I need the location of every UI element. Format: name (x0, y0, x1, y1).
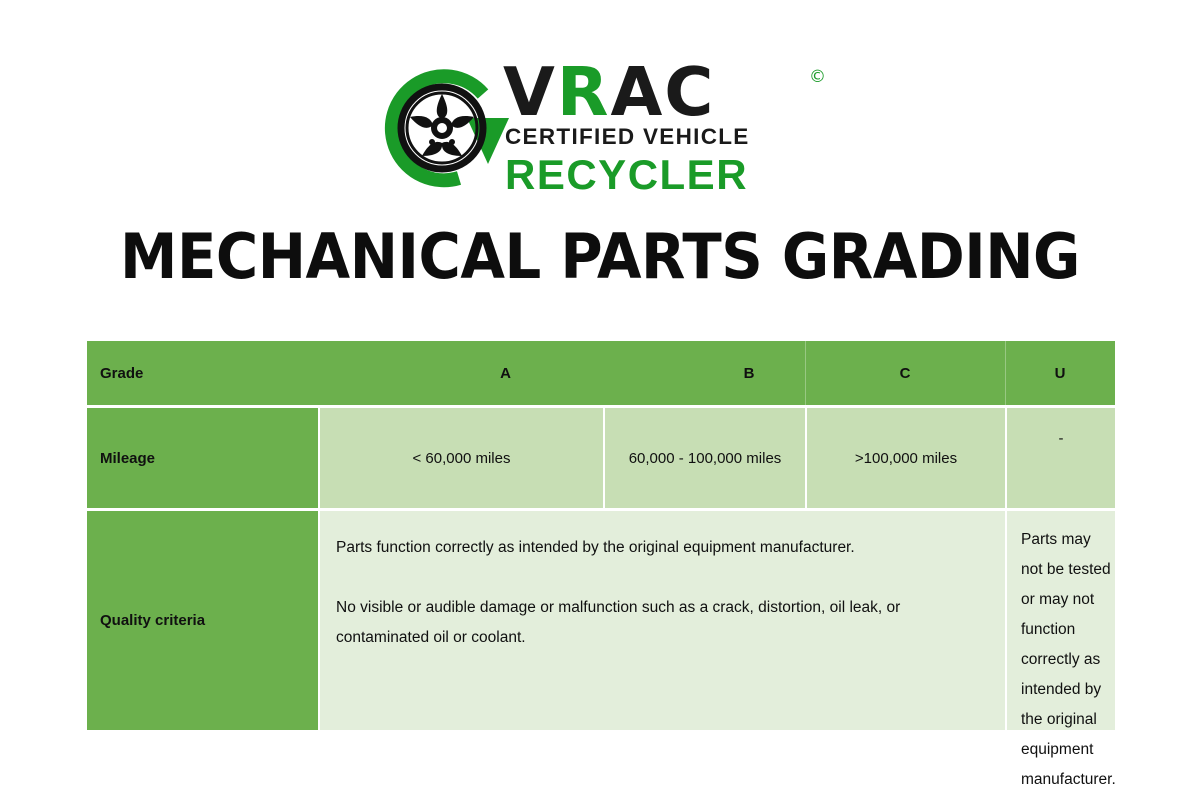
vrac-letter-v: V (503, 53, 557, 131)
header-separator (1005, 341, 1006, 405)
table-header-grade-a: A (318, 341, 693, 405)
copyright-icon: © (809, 69, 826, 86)
mileage-cell-c: >100,000 miles (805, 408, 1005, 508)
table-header-grade-c: C (805, 341, 1005, 405)
vrac-wordmark: VRAC © CERTIFIED VEHICLE RECYCLER (503, 55, 838, 200)
table-header-row: Grade A B C U (87, 341, 1115, 405)
vrac-letters-ac: AC (610, 53, 715, 131)
mechanical-parts-grading-table: Grade A B C U Mileage < 60,000 miles 60,… (87, 341, 1115, 730)
vrac-letter-r: R (557, 53, 611, 131)
table-header-grade-b: B (693, 341, 805, 405)
vrac-recycling-wheel-logo-icon (375, 60, 510, 195)
vrac-logo: VRAC © CERTIFIED VEHICLE RECYCLER (375, 55, 835, 200)
mileage-cell-u: - (1005, 408, 1115, 508)
table-header-grade: Grade (87, 341, 318, 405)
table-row: Quality criteria Parts function correctl… (87, 511, 1115, 730)
page-title: MECHANICAL PARTS GRADING (42, 222, 1158, 292)
header-separator (805, 341, 806, 405)
quality-paragraph-2: No visible or audible damage or malfunct… (336, 593, 989, 653)
table-header-grade-u: U (1005, 341, 1115, 405)
mileage-cell-a: < 60,000 miles (318, 408, 603, 508)
vrac-wordmark-line2: CERTIFIED VEHICLE (505, 124, 750, 150)
mileage-cell-b: 60,000 - 100,000 miles (603, 408, 805, 508)
quality-paragraph-1: Parts function correctly as intended by … (336, 533, 989, 563)
vrac-wordmark-line1: VRAC (503, 57, 715, 127)
vrac-wordmark-line3: RECYCLER (505, 151, 748, 199)
quality-criteria-cell-abc: Parts function correctly as intended by … (318, 511, 1005, 730)
row-label-quality-criteria: Quality criteria (87, 511, 318, 730)
row-label-mileage: Mileage (87, 408, 318, 508)
table-row: Mileage < 60,000 miles 60,000 - 100,000 … (87, 408, 1115, 508)
quality-criteria-cell-u: Parts may not be tested or may not funct… (1005, 511, 1115, 730)
